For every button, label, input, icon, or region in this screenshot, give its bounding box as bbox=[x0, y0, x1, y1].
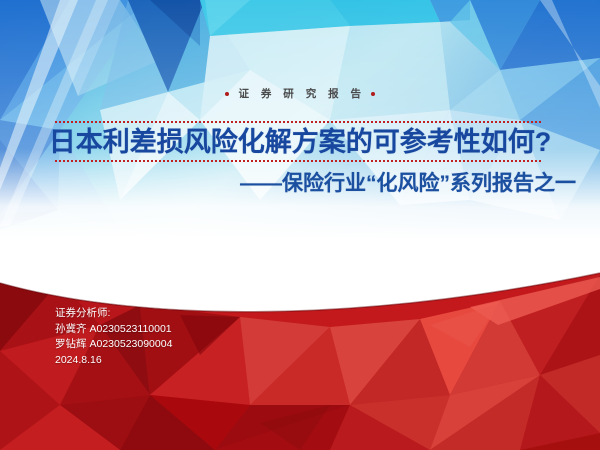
kicker: 证 券 研 究 报 告 bbox=[0, 86, 600, 101]
blue-polygon-artwork bbox=[0, 0, 600, 240]
bullet-dot-icon bbox=[371, 92, 375, 96]
bullet-dot-icon bbox=[225, 92, 229, 96]
dotted-divider-top bbox=[55, 121, 542, 123]
analyst-license: A0230523090004 bbox=[90, 338, 173, 350]
analyst-license: A0230523110001 bbox=[90, 323, 172, 335]
analyst-entry: 孙冀齐A0230523110001 bbox=[55, 322, 172, 338]
report-date: 2024.8.16 bbox=[55, 353, 172, 369]
report-cover-slide: 证 券 研 究 报 告 日本利差损风险化解方案的可参考性如何? ——保险行业“化… bbox=[0, 0, 600, 450]
analyst-block: 证券分析师: 孙冀齐A0230523110001 罗钻辉A02305230900… bbox=[55, 306, 172, 368]
analyst-name: 孙冀齐 bbox=[55, 323, 87, 335]
page-title: 日本利差损风险化解方案的可参考性如何? bbox=[0, 126, 600, 158]
kicker-label: 证 券 研 究 报 告 bbox=[238, 86, 365, 101]
analyst-name: 罗钻辉 bbox=[55, 338, 87, 350]
page-subtitle: ——保险行业“化风险”系列报告之一 bbox=[240, 171, 576, 197]
blue-polygon-banner bbox=[0, 0, 600, 240]
analyst-heading: 证券分析师: bbox=[55, 306, 172, 322]
analyst-entry: 罗钻辉A0230523090004 bbox=[55, 337, 172, 353]
dotted-divider-middle bbox=[55, 160, 542, 162]
